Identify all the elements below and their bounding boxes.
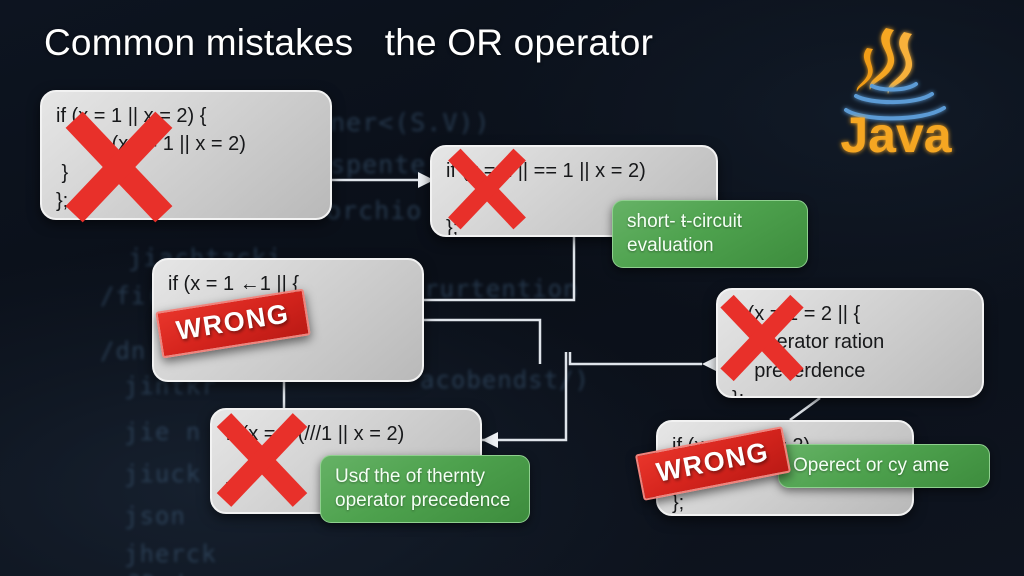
background-code-line: jherck [124, 540, 217, 568]
background-code-line: 2D days [128, 572, 228, 576]
code-line: }; [56, 187, 316, 215]
background-code-line: spente [330, 150, 426, 179]
code-box-4[interactable]: if (x = 1 = 2 || { operator ration prece… [716, 288, 984, 398]
callout-short-circuit[interactable]: short- ŧ-circuit evaluation [612, 200, 808, 268]
arrowhead-to-box-5 [482, 432, 498, 448]
slide-canvas: ner<(S.V))spenteorchiojiachtzcki/fi(rurt… [0, 0, 1024, 576]
background-code-line: orchio [326, 196, 422, 225]
code-line: (x == 1 || x = 2) [56, 130, 316, 158]
callout-operect[interactable]: Operect or cy ame [778, 444, 990, 488]
background-code-line: acobendst/) [420, 366, 590, 394]
code-line: } [56, 159, 316, 187]
code-line: if (x = 1 || x = 2) { [56, 102, 316, 130]
background-code-line: rurtention [424, 275, 579, 303]
java-logo: Java [812, 18, 980, 158]
background-code-line: json [124, 502, 186, 530]
code-box-1[interactable]: if (x = 1 || x = 2) { (x == 1 || x = 2) … [40, 90, 332, 220]
code-line: operator ration [732, 328, 968, 356]
java-wordmark: Java [840, 107, 952, 158]
background-code-line: ner<(S.V)) [330, 108, 491, 137]
code-line: }; [672, 489, 898, 516]
background-code-line: jiuck [124, 460, 201, 488]
java-steam-icon [857, 28, 912, 94]
code-line: if (x = 1 || == 1 || x = 2) [446, 157, 702, 185]
code-line: if (x = 1 = 2 || { [732, 300, 968, 328]
page-title: Common mistakes the OR operator [44, 22, 653, 64]
callout-operator-precedence[interactable]: Usɗ the of thernty operator precedence [320, 455, 530, 523]
background-code-line: jie n [124, 418, 201, 446]
code-line: precerdence [732, 357, 968, 385]
background-code-line: /dn [100, 337, 146, 365]
code-line: }; [732, 385, 968, 398]
code-line: if (x = 1 (///1 || x = 2) [226, 420, 466, 448]
